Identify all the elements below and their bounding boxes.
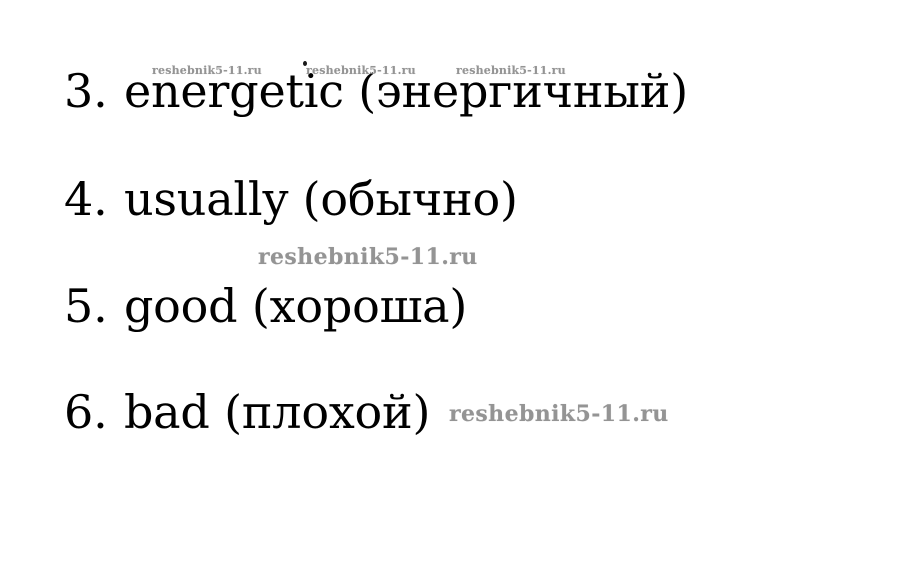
answer-russian-4: (обычно) — [303, 172, 518, 226]
answer-russian-3: (энергичный) — [358, 64, 688, 118]
answer-english-6: bad — [124, 385, 210, 439]
document-page: 3. energetic (энергичный) 4. usually (об… — [0, 0, 912, 568]
answer-number-4: 4. — [64, 172, 108, 226]
answer-english-5: good — [124, 279, 237, 333]
answer-russian-5: (хороша) — [252, 279, 467, 333]
answer-russian-6: (плохой) — [224, 385, 430, 439]
answer-number-3: 3. — [64, 64, 108, 118]
watermark-middle: reshebnik5-11.ru — [258, 244, 478, 270]
scan-speck-artifact — [303, 61, 307, 66]
watermark-bottom: reshebnik5-11.ru — [449, 401, 669, 427]
answer-english-3: energetic — [124, 64, 344, 118]
answer-number-6: 6. — [64, 385, 108, 439]
answer-number-5: 5. — [64, 279, 108, 333]
answer-line-5: 5. good (хороша) — [64, 283, 467, 329]
answer-line-4: 4. usually (обычно) — [64, 176, 518, 222]
answer-english-4: usually — [124, 172, 288, 226]
answer-line-6: 6. bad (плохой) — [64, 389, 430, 435]
answer-line-3: 3. energetic (энергичный) — [64, 68, 688, 114]
